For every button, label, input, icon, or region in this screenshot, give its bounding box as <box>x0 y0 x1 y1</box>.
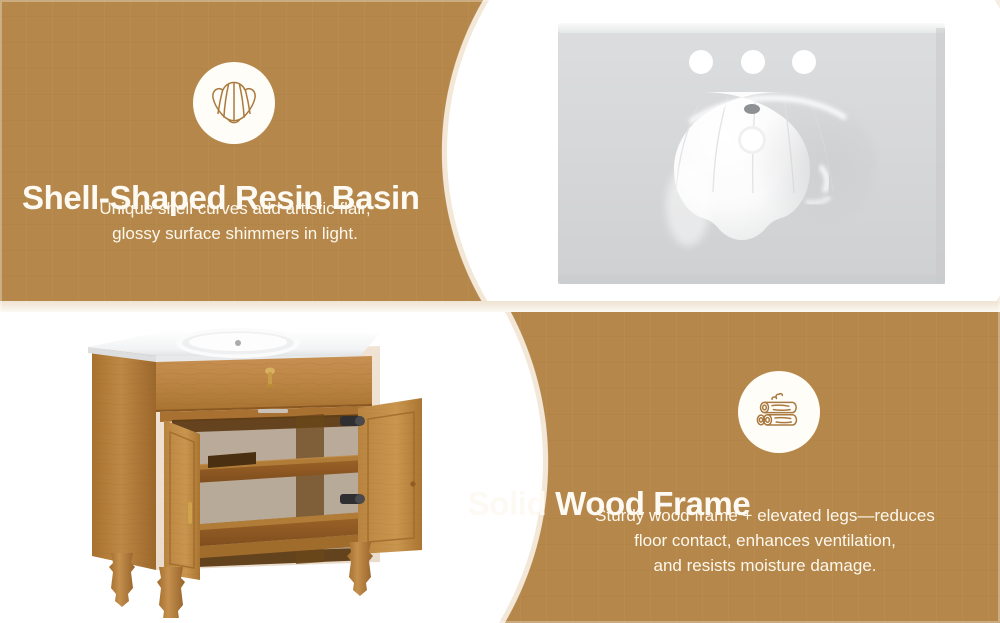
feature-description-line: floor contact, enhances ventilation, <box>530 528 1000 553</box>
cabinet-door-left[interactable] <box>164 420 200 580</box>
seashell-badge <box>193 62 275 144</box>
feature-description-line: Unique shell curves add artistic flair, <box>0 196 470 221</box>
door-knob-right[interactable] <box>410 481 415 486</box>
faucet-holes <box>689 50 816 74</box>
faucet-hole-right <box>792 50 816 74</box>
stacked-logs-badge <box>738 371 820 453</box>
vanity-drain <box>235 340 241 346</box>
sink-top-photo <box>520 6 990 298</box>
stacked-logs-icon <box>751 388 807 436</box>
feature-description-line: glossy surface shimmers in light. <box>0 221 470 246</box>
feature-description-shell-basin: Unique shell curves add artistic flair, … <box>0 196 470 246</box>
product-feature-infographic: Shell-Shaped Resin Basin Unique shell cu… <box>0 0 1000 623</box>
drain-hole <box>738 126 766 154</box>
door-handle-left[interactable] <box>188 502 192 524</box>
leg-front-left <box>109 553 135 607</box>
feature-panel-shell-basin: Shell-Shaped Resin Basin Unique shell cu… <box>0 0 1000 303</box>
feature-description-line: and resists moisture damage. <box>530 553 1000 578</box>
overflow-hole <box>744 104 760 114</box>
vanity-countertop-with-sink <box>88 328 380 362</box>
cabinet-drawer <box>156 356 372 411</box>
leg-front-center <box>157 567 185 618</box>
feature-description-solid-wood-frame: Sturdy wood frame + elevated legs—reduce… <box>530 503 1000 578</box>
feature-description-line: Sturdy wood frame + elevated legs—reduce… <box>530 503 1000 528</box>
faucet-hole-center <box>741 50 765 74</box>
faucet-hole-left <box>689 50 713 74</box>
vanity-cabinet-photo <box>60 312 470 618</box>
cabinet-left-side-panel <box>92 348 156 570</box>
leg-front-right <box>347 542 373 596</box>
seashell-icon <box>208 78 260 128</box>
